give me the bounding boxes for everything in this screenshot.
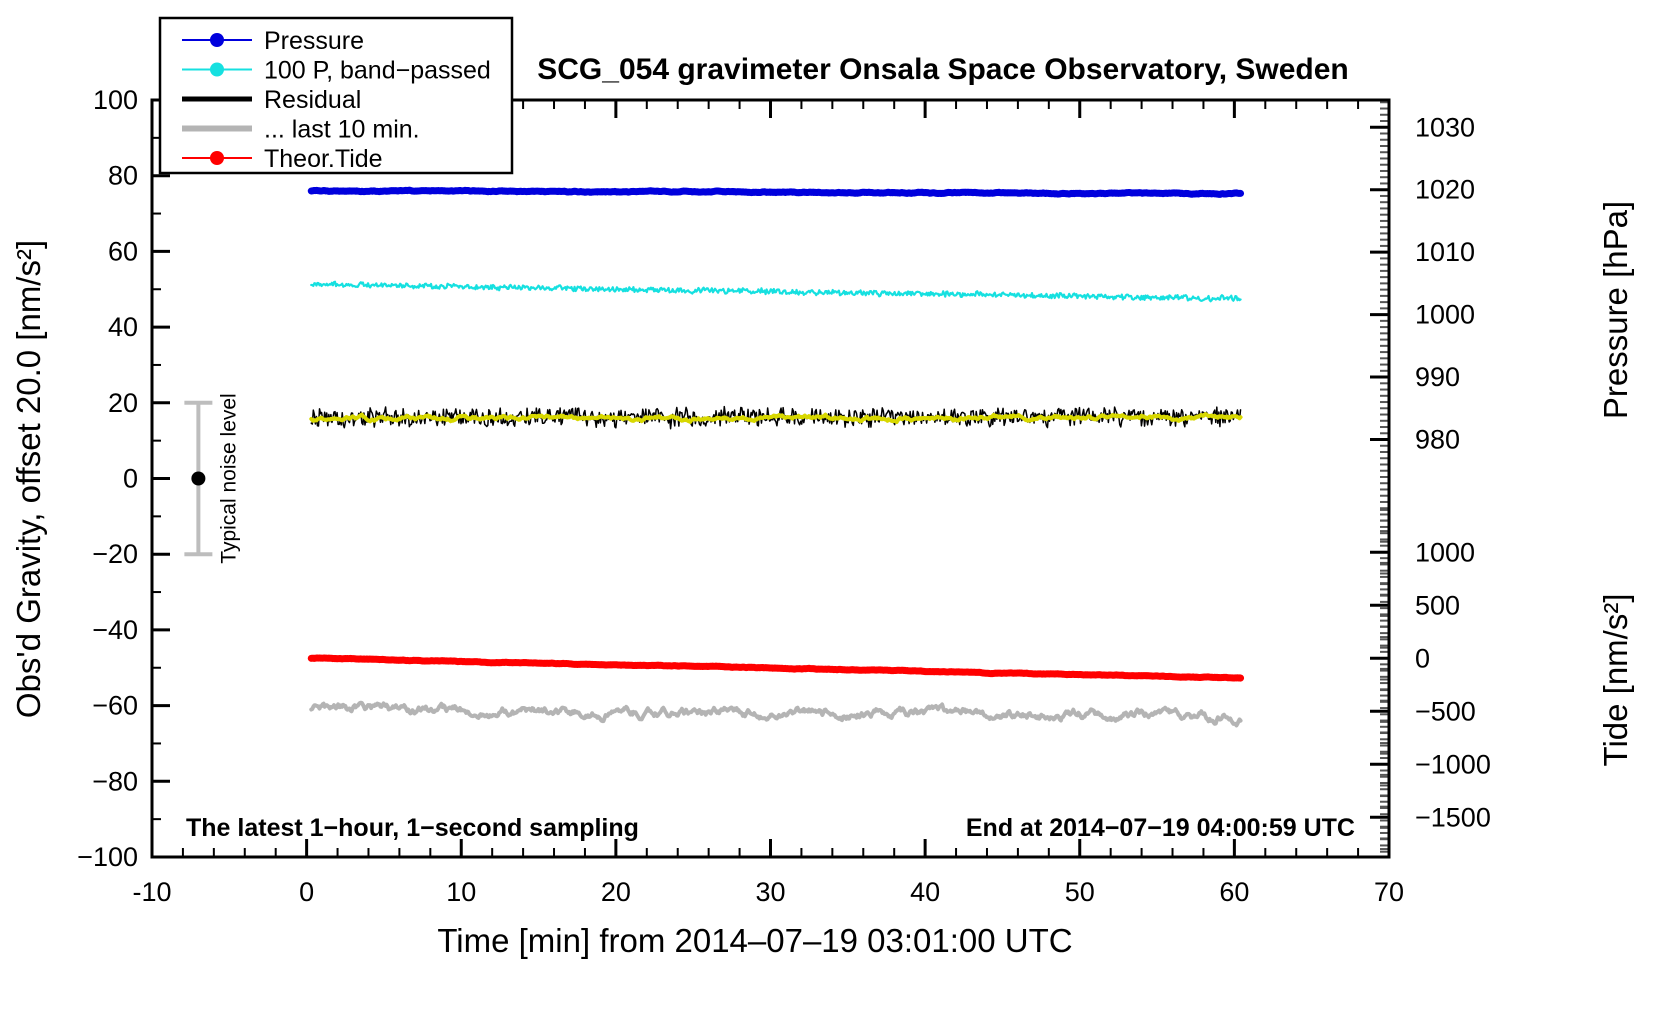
end-time-annotation: End at 2014−07−19 04:00:59 UTC [966,814,1355,842]
pressure-tick-label: 990 [1415,362,1460,392]
legend-label: ... last 10 min. [264,116,420,144]
pressure-tick-label: 1030 [1415,112,1475,142]
y-tick-label: −20 [92,539,138,569]
x-tick-label: 0 [299,877,314,907]
chart-legend: Pressure100 P, band−passedResidual... la… [160,18,512,173]
tide-tick-label: −1500 [1415,802,1491,832]
x-tick-label: 50 [1065,877,1095,907]
series-line [311,190,1240,194]
pressure-tick-label: 1020 [1415,175,1475,205]
x-tick-label: -10 [132,877,171,907]
x-tick-label: 40 [910,877,940,907]
legend-marker [210,63,224,77]
tide-axis-title: Tide [nm/s²] [1597,594,1634,767]
tide-tick-label: −1000 [1415,749,1491,779]
sampling-annotation: The latest 1−hour, 1−second sampling [186,814,639,842]
page-title: SCG_054 gravimeter Onsala Space Observat… [537,53,1349,86]
legend-label: Theor.Tide [264,145,383,173]
tide-tick-label: −500 [1415,696,1476,726]
y-axis-title: Obs'd Gravity, offset 20.0 [nm/s²] [10,240,47,718]
x-axis-title: Time [min] from 2014–07–19 03:01:00 UTC [437,922,1072,959]
pressure-tick-label: 1000 [1415,300,1475,330]
x-tick-label: 30 [755,877,785,907]
x-tick-label: 10 [446,877,476,907]
y-tick-label: 100 [93,85,138,115]
legend-label: Residual [264,86,361,114]
chart-figure: -10010203040506070 100806040200−20−40−60… [0,0,1660,1020]
legend-marker [210,33,224,47]
y-tick-label: −100 [77,842,138,872]
y-tick-label: −80 [92,766,138,796]
y-tick-label: 80 [108,161,138,191]
noise-level-label: Typical noise level [217,393,240,563]
legend-label: Pressure [264,27,364,55]
y-tick-label: −40 [92,615,138,645]
legend-marker [210,151,224,165]
legend-label: 100 P, band−passed [264,57,491,85]
y-tick-label: 40 [108,312,138,342]
pressure-tick-label: 1010 [1415,237,1475,267]
y-tick-label: 0 [123,464,138,494]
gravimeter-time-series-chart: -10010203040506070 100806040200−20−40−60… [0,0,1660,1020]
tide-tick-label: 0 [1415,643,1430,673]
tide-tick-label: 500 [1415,590,1460,620]
y-tick-label: 60 [108,236,138,266]
pressure-tick-label: 980 [1415,425,1460,455]
x-tick-label: 60 [1219,877,1249,907]
y-tick-label: −60 [92,691,138,721]
x-tick-label: 70 [1374,877,1404,907]
x-tick-label: 20 [601,877,631,907]
tide-tick-label: 1000 [1415,537,1475,567]
pressure-axis-title: Pressure [hPa] [1597,201,1634,419]
noise-bar-center-dot [191,472,205,486]
y-tick-label: 20 [108,388,138,418]
